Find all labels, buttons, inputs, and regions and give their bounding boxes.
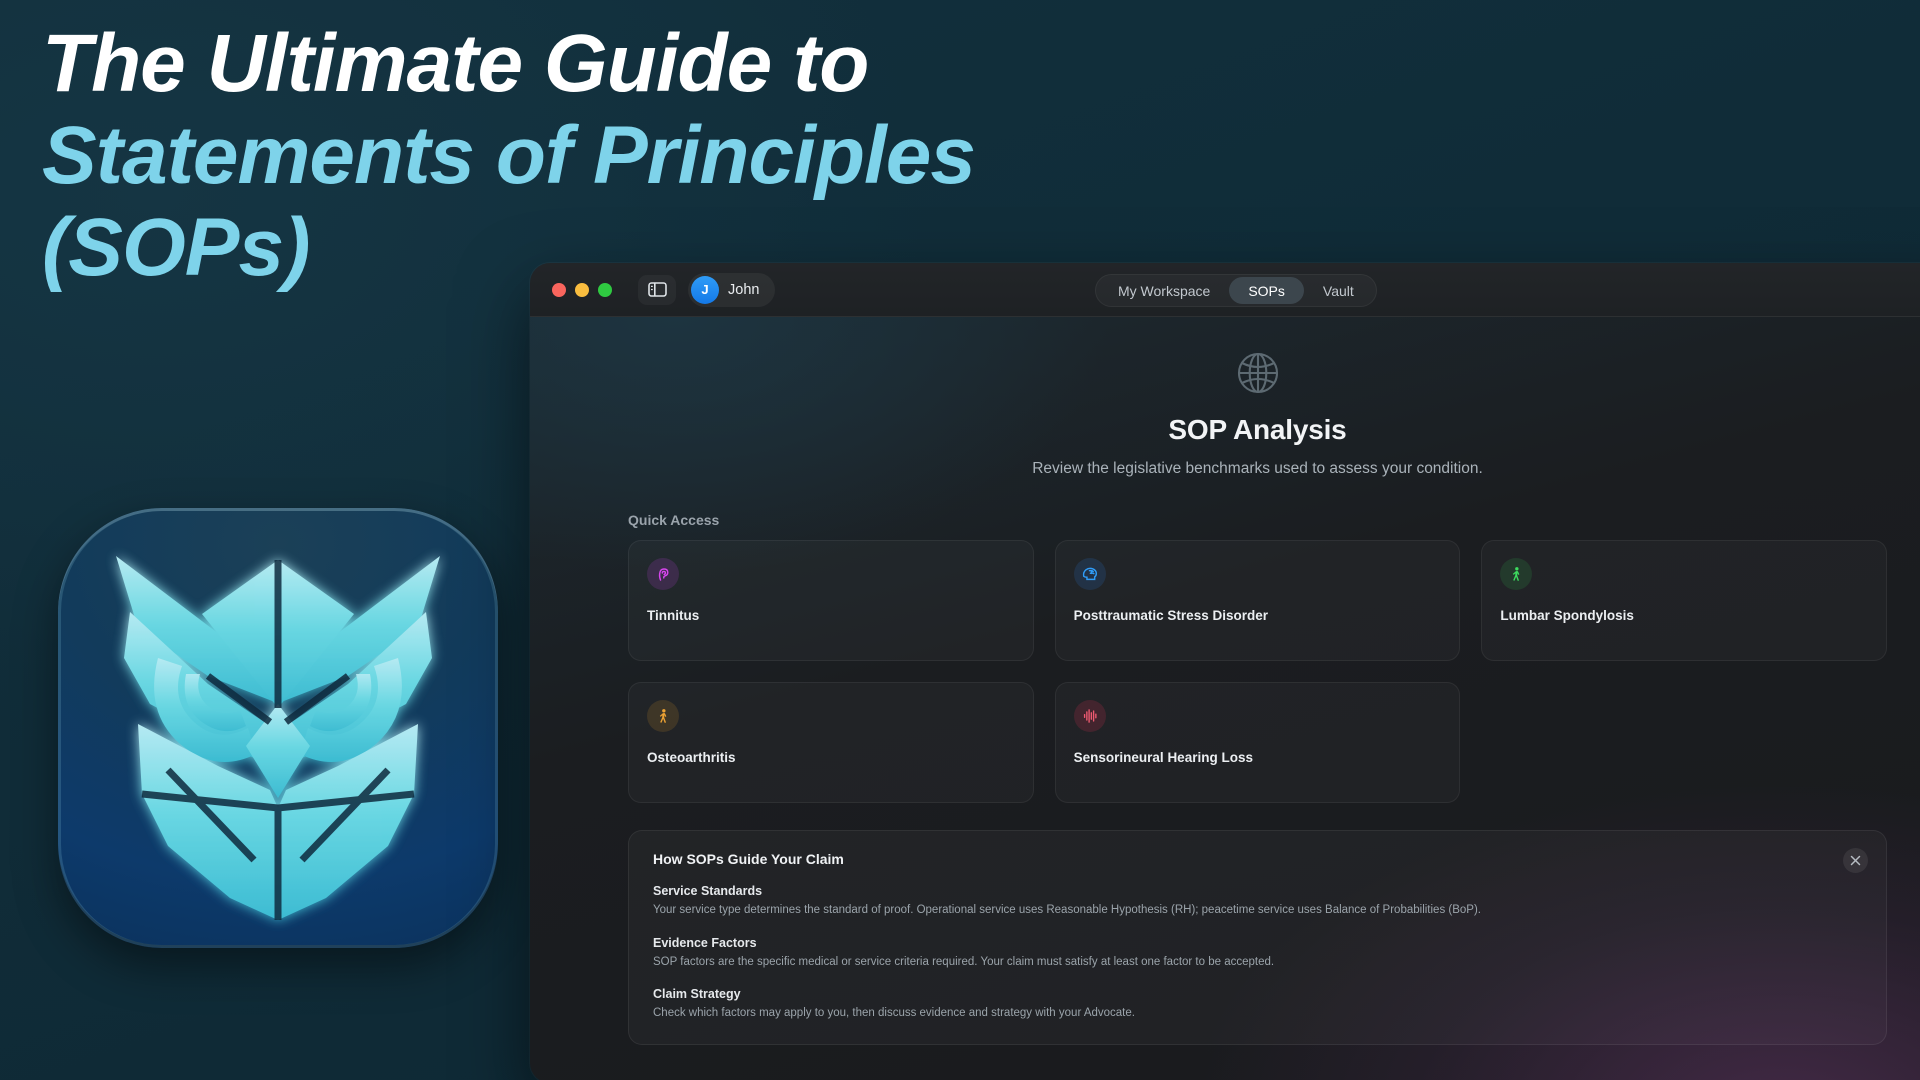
section-body: Your service type determines the standar… [653,903,1862,919]
maximize-window-button[interactable] [598,283,612,297]
app-logo [58,508,498,948]
ear-icon [647,558,679,590]
section-heading: Evidence Factors [653,936,1862,950]
card-label: Sensorineural Hearing Loss [1074,750,1253,765]
user-menu-button[interactable]: J John [688,273,775,307]
card-label: Tinnitus [647,608,699,623]
logo-tile [58,508,498,948]
minimize-window-button[interactable] [575,283,589,297]
section-heading: Service Standards [653,884,1862,898]
quick-access-card-sensorineural-hearing-loss[interactable]: Sensorineural Hearing Loss [1055,682,1461,803]
info-section-evidence-factors: Evidence Factors SOP factors are the spe… [653,936,1862,971]
headline-line-2: Statements of Principles [42,110,1382,202]
info-section-service-standards: Service Standards Your service type dete… [653,884,1862,919]
walking-person-icon [647,700,679,732]
window-titlebar: J John My Workspace SOPs Vault [530,263,1920,317]
page-subtitle: Review the legislative benchmarks used t… [530,460,1920,478]
card-label: Osteoarthritis [647,750,736,765]
sidebar-toggle-icon [648,282,667,297]
owl-icon [58,508,498,948]
headline-line-1: The Ultimate Guide to [42,18,1382,110]
quick-access-card-osteoarthritis[interactable]: Osteoarthritis [628,682,1034,803]
tab-bar: My Workspace SOPs Vault [1095,274,1377,307]
panel-title: How SOPs Guide Your Claim [653,851,1862,867]
quick-access-label: Quick Access [628,512,1920,528]
quick-access-card-ptsd[interactable]: Posttraumatic Stress Disorder [1055,540,1461,661]
audio-waveform-icon [1074,700,1106,732]
page-hero: SOP Analysis Review the legislative benc… [530,347,1920,478]
quick-access-grid: Tinnitus Posttraumatic Stress Disorder [628,540,1887,803]
grid-spacer [1481,682,1887,803]
window-content: SOP Analysis Review the legislative benc… [530,317,1920,1080]
globe-icon [1232,347,1284,404]
sidebar-toggle-button[interactable] [638,275,676,305]
tab-vault[interactable]: Vault [1304,277,1373,304]
tab-sops[interactable]: SOPs [1229,277,1304,304]
card-label: Posttraumatic Stress Disorder [1074,608,1268,623]
how-sops-guide-panel: How SOPs Guide Your Claim Service Standa… [628,830,1887,1045]
section-body: SOP factors are the specific medical or … [653,955,1862,971]
info-section-claim-strategy: Claim Strategy Check which factors may a… [653,987,1862,1022]
section-body: Check which factors may apply to you, th… [653,1006,1862,1022]
close-icon[interactable] [1843,848,1868,873]
section-heading: Claim Strategy [653,987,1862,1001]
head-brain-icon [1074,558,1106,590]
card-label: Lumbar Spondylosis [1500,608,1634,623]
traffic-lights [552,283,612,297]
page-title: SOP Analysis [530,414,1920,446]
walking-person-icon [1500,558,1532,590]
user-name: John [728,282,759,298]
quick-access-card-lumbar-spondylosis[interactable]: Lumbar Spondylosis [1481,540,1887,661]
tab-my-workspace[interactable]: My Workspace [1099,277,1229,304]
promo-headline: The Ultimate Guide to Statements of Prin… [42,18,1382,293]
app-window: J John My Workspace SOPs Vault [530,263,1920,1080]
avatar: J [691,276,719,304]
promo-canvas: The Ultimate Guide to Statements of Prin… [0,0,1920,1080]
quick-access-card-tinnitus[interactable]: Tinnitus [628,540,1034,661]
close-window-button[interactable] [552,283,566,297]
